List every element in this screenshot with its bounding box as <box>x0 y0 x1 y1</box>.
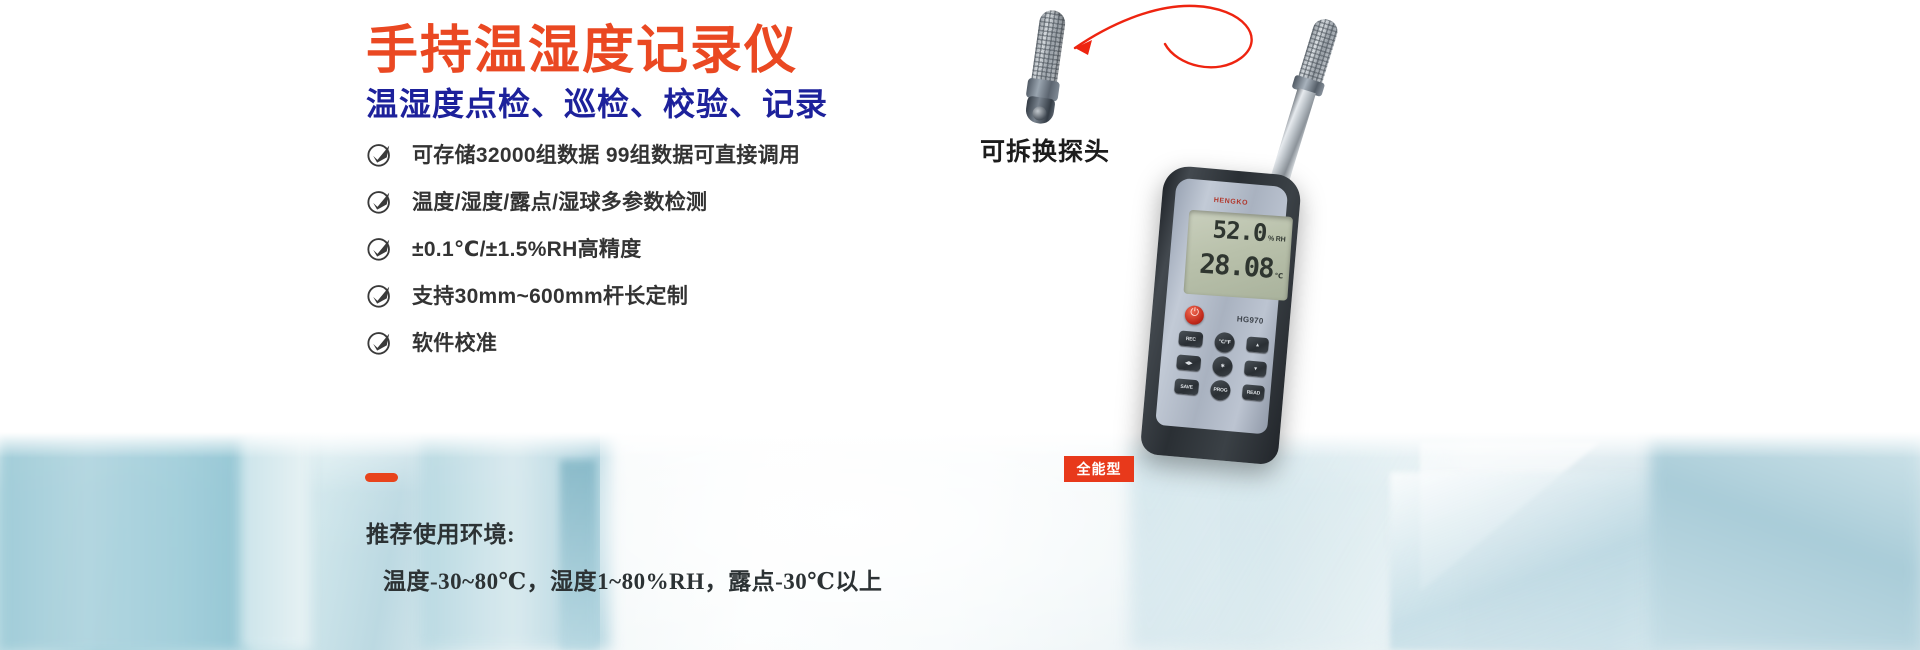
key-down[interactable]: ▼ <box>1244 360 1267 377</box>
key-backlight[interactable]: ✱ <box>1212 355 1234 377</box>
status-badge: 全能型 <box>1064 456 1134 482</box>
list-item-label: ±0.1℃/±1.5%RH高精度 <box>412 233 642 263</box>
check-circle-icon <box>366 235 393 262</box>
list-item-label: 可存储32000组数据 99组数据可直接调用 <box>412 139 800 169</box>
product-image-group: 可拆换探头 HENGKO 52.0 % RH 28.08 ℃ <box>940 0 1540 650</box>
check-circle-icon <box>366 282 393 309</box>
background-shelf-left <box>0 432 250 650</box>
handheld-meter-device: HENGKO 52.0 % RH 28.08 ℃ HG970 REC ℃/℉ <box>1140 165 1303 466</box>
accent-dash <box>365 473 398 482</box>
probe-label: 可拆换探头 <box>980 132 1110 168</box>
key-unit-toggle[interactable]: ℃/℉ <box>1214 332 1236 354</box>
lcd-humidity-value: 52.0 <box>1212 217 1267 245</box>
list-item-label: 温度/湿度/露点/湿球多参数检测 <box>412 186 707 216</box>
brand-logo: HENGKO <box>1213 197 1248 207</box>
list-item-label: 软件校准 <box>412 327 497 357</box>
check-circle-icon <box>366 141 393 168</box>
key-read[interactable]: READ <box>1242 384 1265 401</box>
product-banner: 手持温湿度记录仪 温湿度点检、巡检、校验、记录 可存储32000组数据 99组数… <box>0 0 1920 650</box>
page-subtitle: 温湿度点检、巡检、校验、记录 <box>366 79 828 125</box>
check-circle-icon <box>366 329 393 356</box>
lcd-humidity-unit: % RH <box>1268 235 1286 243</box>
power-button[interactable] <box>1184 305 1205 326</box>
lcd-display: 52.0 % RH 28.08 ℃ <box>1183 210 1293 301</box>
list-item-label: 支持30mm~600mm杆长定制 <box>412 280 688 310</box>
model-number: HG970 <box>1236 314 1264 325</box>
attached-probe-mesh <box>1298 16 1341 85</box>
key-save[interactable]: SAVE <box>1174 378 1199 395</box>
check-circle-icon <box>366 188 393 215</box>
lcd-temperature-row: 28.08 ℃ <box>1191 250 1285 283</box>
key-rec-max[interactable]: REC <box>1178 330 1203 347</box>
lcd-temperature-unit: ℃ <box>1274 272 1283 281</box>
page-title: 手持温湿度记录仪 <box>366 8 798 83</box>
lcd-humidity-row: 52.0 % RH <box>1193 216 1286 246</box>
meter-front-panel: HENGKO 52.0 % RH 28.08 ℃ HG970 REC ℃/℉ <box>1155 178 1288 435</box>
background-shelf-mid-left <box>240 432 310 650</box>
key-prog[interactable]: PROG <box>1210 379 1232 401</box>
lcd-temperature-value: 28.08 <box>1199 251 1274 283</box>
key-set-navigate[interactable]: ◀▶ <box>1176 354 1201 371</box>
key-up[interactable]: ▲ <box>1246 336 1269 353</box>
meter-keypad: REC ℃/℉ ▲ ◀▶ ✱ ▼ SAVE PROG READ <box>1169 330 1287 439</box>
background-glass-panel-3 <box>1650 432 1920 650</box>
